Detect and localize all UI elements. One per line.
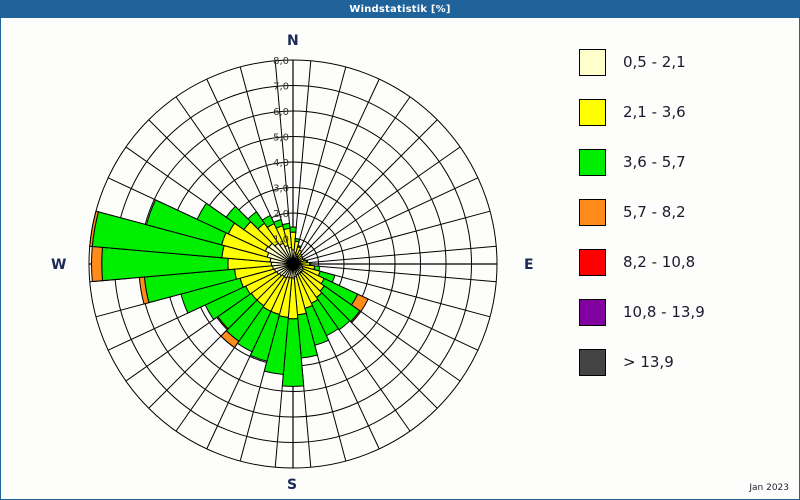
radial-tick-label: 2,0 <box>273 209 289 220</box>
legend-item-label: 0,5 - 2,1 <box>623 53 686 71</box>
legend-item[interactable]: 3,6 - 5,7 <box>579 137 794 187</box>
wind-rose-segment <box>290 227 296 232</box>
legend-item-label: 2,1 - 3,6 <box>623 103 686 121</box>
legend-item-label: > 13,9 <box>623 353 674 371</box>
grid-spoke <box>293 120 437 264</box>
radial-tick-label: 7,0 <box>273 82 289 93</box>
legend-color-swatch <box>579 349 606 376</box>
compass-label-north: N <box>287 33 299 49</box>
radial-tick-label: 4,0 <box>273 158 289 169</box>
legend-item-label: 3,6 - 5,7 <box>623 153 686 171</box>
legend-item[interactable]: 8,2 - 10,8 <box>579 237 794 287</box>
grid-spoke <box>293 147 460 264</box>
legend-item[interactable]: 2,1 - 3,6 <box>579 87 794 137</box>
legend-color-swatch <box>579 249 606 276</box>
legend-color-swatch <box>579 199 606 226</box>
radial-tick-label: 8,0 <box>273 56 289 67</box>
radial-tick-label: 5,0 <box>273 133 289 144</box>
window-title-bar: Windstatistik [%] <box>1 1 799 18</box>
wind-rose-plot: 1,02,03,04,05,06,07,08,0 N E S W <box>1 19 561 499</box>
legend-item[interactable]: 10,8 - 13,9 <box>579 287 794 337</box>
legend-color-swatch <box>579 299 606 326</box>
legend-color-swatch <box>579 49 606 76</box>
radial-tick-label: 3,0 <box>273 184 289 195</box>
compass-label-west: W <box>51 257 66 273</box>
radial-tick-labels: 1,02,03,04,05,06,07,08,0 <box>273 56 289 246</box>
compass-label-east: E <box>524 257 534 273</box>
legend-item-label: 8,2 - 10,8 <box>623 253 695 271</box>
legend-item[interactable]: 5,7 - 8,2 <box>579 187 794 237</box>
wind-rose-segment <box>282 223 289 229</box>
grid-spoke <box>293 97 410 264</box>
legend-item-label: 10,8 - 13,9 <box>623 303 705 321</box>
legend-item[interactable]: > 13,9 <box>579 337 794 387</box>
wind-rose-petals <box>90 200 368 387</box>
speed-bin-legend: 0,5 - 2,12,1 - 3,63,6 - 5,75,7 - 8,28,2 … <box>579 37 794 387</box>
wind-rose-svg: 1,02,03,04,05,06,07,08,0 <box>1 19 561 499</box>
window-title: Windstatistik [%] <box>349 4 450 15</box>
legend-color-swatch <box>579 149 606 176</box>
compass-label-south: S <box>287 477 297 493</box>
grid-spoke <box>293 211 490 264</box>
windrose-window: Windstatistik [%] 1,02,03,04,05,06,07,08… <box>0 0 800 500</box>
wind-rose-segment <box>295 239 300 242</box>
grid-spoke <box>293 67 346 264</box>
radial-tick-label: 6,0 <box>273 107 289 118</box>
radial-tick-label: 1,0 <box>273 235 289 246</box>
period-label: Jan 2023 <box>749 483 789 493</box>
wind-rose-segment <box>92 246 103 281</box>
legend-color-swatch <box>579 99 606 126</box>
legend-item-label: 5,7 - 8,2 <box>623 203 686 221</box>
legend-item[interactable]: 0,5 - 2,1 <box>579 37 794 87</box>
